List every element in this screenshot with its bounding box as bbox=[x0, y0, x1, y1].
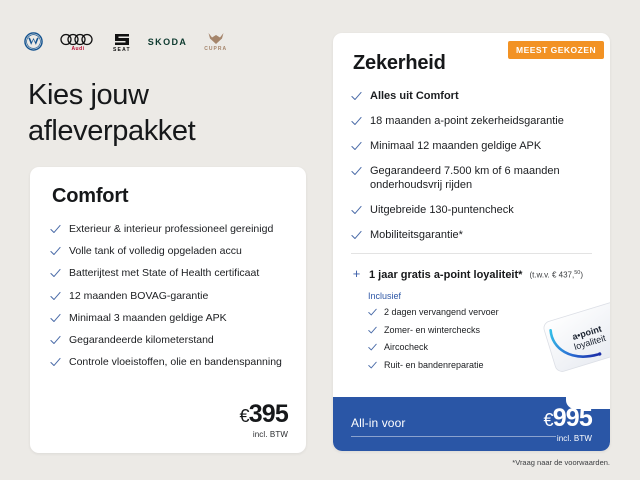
loyalty-highlight-row: + 1 jaar gratis a-point loyaliteit* (t.w… bbox=[351, 267, 594, 281]
check-icon bbox=[50, 246, 61, 257]
inclusief-section: Inclusief 2 dagen vervangend vervoer Zom… bbox=[368, 291, 610, 372]
section-divider bbox=[351, 253, 592, 254]
check-icon bbox=[50, 313, 61, 324]
price-value: 995 bbox=[553, 404, 592, 432]
feature-text: Batterijtest met State of Health certifi… bbox=[69, 266, 259, 280]
skoda-logo: SKODA bbox=[148, 37, 188, 47]
list-item: Gegarandeerde kilometerstand bbox=[50, 333, 288, 347]
comfort-price-note: incl. BTW bbox=[239, 430, 288, 439]
comfort-package-card[interactable]: Comfort Exterieur & interieur profession… bbox=[30, 167, 306, 453]
volkswagen-logo bbox=[24, 32, 43, 52]
cupra-logo: CUPRA bbox=[204, 32, 227, 52]
list-item: Minimaal 3 maanden geldige APK bbox=[50, 311, 288, 325]
allin-rule bbox=[351, 436, 556, 437]
list-item: Volle tank of volledig opgeladen accu bbox=[50, 244, 288, 258]
list-item: Exterieur & interieur professioneel gere… bbox=[50, 222, 288, 236]
audi-rings-icon bbox=[60, 33, 96, 46]
headline-line-2: afleverpakket bbox=[28, 115, 195, 147]
list-item: Minimaal 12 maanden geldige APK bbox=[351, 139, 594, 154]
inclusief-item-text: Ruit- en bandenreparatie bbox=[384, 360, 484, 372]
loyalty-card-graphic: a•point loyaliteit bbox=[534, 299, 610, 373]
price-value: 395 bbox=[249, 400, 288, 428]
list-item: 18 maanden a-point zekerheidsgarantie bbox=[351, 114, 594, 129]
currency-symbol: € bbox=[239, 406, 248, 426]
comfort-feature-list: Exterieur & interieur professioneel gere… bbox=[50, 222, 288, 369]
check-icon bbox=[368, 361, 377, 370]
list-item: Controle vloeistoffen, olie en bandenspa… bbox=[50, 355, 288, 369]
check-icon bbox=[368, 308, 377, 317]
zekerheid-price-block: €995 incl. BTW bbox=[543, 406, 592, 443]
loyalty-value-prefix: (t.w.v. € 437, bbox=[529, 271, 574, 280]
zekerheid-feature-list: Alles uit Comfort 18 maanden a-point zek… bbox=[351, 89, 594, 243]
cupra-wordmark: CUPRA bbox=[204, 47, 227, 52]
feature-text: Gegarandeerd 7.500 km of 6 maanden onder… bbox=[370, 164, 594, 194]
brand-logo-strip: Audi SEAT SKODA CUPRA bbox=[24, 28, 227, 56]
feature-text: Minimaal 12 maanden geldige APK bbox=[370, 139, 541, 154]
a-point-loyalty-card-icon: a•point loyaliteit bbox=[534, 299, 610, 373]
skoda-wordmark: SKODA bbox=[148, 37, 188, 47]
list-item: Mobiliteitsgarantie* bbox=[351, 228, 594, 243]
check-icon bbox=[351, 141, 362, 152]
status-badge: MEEST GEKOZEN bbox=[508, 41, 604, 59]
check-icon bbox=[368, 343, 377, 352]
inclusief-item-text: 2 dagen vervangend vervoer bbox=[384, 307, 499, 319]
cupra-tribal-icon bbox=[207, 32, 225, 46]
currency-symbol: € bbox=[543, 410, 552, 430]
check-icon bbox=[368, 326, 377, 335]
inclusief-item-text: Aircocheck bbox=[384, 342, 428, 354]
seat-s-icon bbox=[114, 32, 130, 47]
zekerheid-price: €995 bbox=[543, 406, 592, 431]
feature-text: Alles uit Comfort bbox=[370, 89, 459, 104]
comfort-card-title: Comfort bbox=[52, 185, 306, 208]
page-title: Kies jouw afleverpakket bbox=[28, 78, 278, 150]
check-icon bbox=[50, 335, 61, 346]
zekerheid-package-card[interactable]: Zekerheid Alles uit Comfort 18 maanden a… bbox=[333, 33, 610, 451]
allin-label: All-in voor bbox=[351, 416, 405, 430]
check-icon bbox=[50, 357, 61, 368]
check-icon bbox=[50, 291, 61, 302]
feature-text: 12 maanden BOVAG-garantie bbox=[69, 289, 208, 303]
feature-text: 18 maanden a-point zekerheidsgarantie bbox=[370, 114, 564, 129]
feature-text: Uitgebreide 130-puntencheck bbox=[370, 203, 514, 218]
feature-text: Mobiliteitsgarantie* bbox=[370, 228, 463, 243]
plus-icon: + bbox=[351, 269, 362, 280]
list-item: Gegarandeerd 7.500 km of 6 maanden onder… bbox=[351, 164, 594, 194]
list-item: 12 maanden BOVAG-garantie bbox=[50, 289, 288, 303]
check-icon bbox=[50, 224, 61, 235]
zekerheid-price-note: incl. BTW bbox=[543, 434, 592, 443]
feature-text: Gegarandeerde kilometerstand bbox=[69, 333, 214, 347]
inclusief-item-text: Zomer- en winterchecks bbox=[384, 325, 480, 337]
allin-price-bar: All-in voor €995 incl. BTW bbox=[333, 397, 610, 451]
seat-wordmark: SEAT bbox=[113, 48, 131, 53]
check-icon bbox=[351, 91, 362, 102]
comfort-price: €395 bbox=[239, 402, 288, 427]
check-icon bbox=[351, 166, 362, 177]
list-item: Uitgebreide 130-puntencheck bbox=[351, 203, 594, 218]
feature-text: Exterieur & interieur professioneel gere… bbox=[69, 222, 273, 236]
loyalty-value: (t.w.v. € 437,50) bbox=[529, 270, 583, 280]
list-item: Alles uit Comfort bbox=[351, 89, 594, 104]
headline-line-1: Kies jouw bbox=[28, 79, 149, 111]
audi-wordmark: Audi bbox=[71, 47, 84, 52]
loyalty-value-suffix: ) bbox=[580, 271, 583, 280]
page-root: Audi SEAT SKODA CUPRA Kies jouw afleverp… bbox=[0, 0, 640, 480]
feature-text: Volle tank of volledig opgeladen accu bbox=[69, 244, 242, 258]
list-item: Batterijtest met State of Health certifi… bbox=[50, 266, 288, 280]
seat-logo: SEAT bbox=[113, 32, 131, 53]
comfort-price-block: €395 incl. BTW bbox=[239, 402, 288, 439]
check-icon bbox=[351, 230, 362, 241]
footnote: *Vraag naar de voorwaarden. bbox=[512, 458, 610, 467]
vw-roundel-icon bbox=[24, 32, 43, 51]
check-icon bbox=[351, 116, 362, 127]
audi-logo: Audi bbox=[60, 33, 96, 52]
loyalty-label: 1 jaar gratis a-point loyaliteit* bbox=[369, 269, 522, 281]
check-icon bbox=[50, 268, 61, 279]
check-icon bbox=[351, 205, 362, 216]
feature-text: Minimaal 3 maanden geldige APK bbox=[69, 311, 227, 325]
feature-text: Controle vloeistoffen, olie en bandenspa… bbox=[69, 355, 282, 369]
